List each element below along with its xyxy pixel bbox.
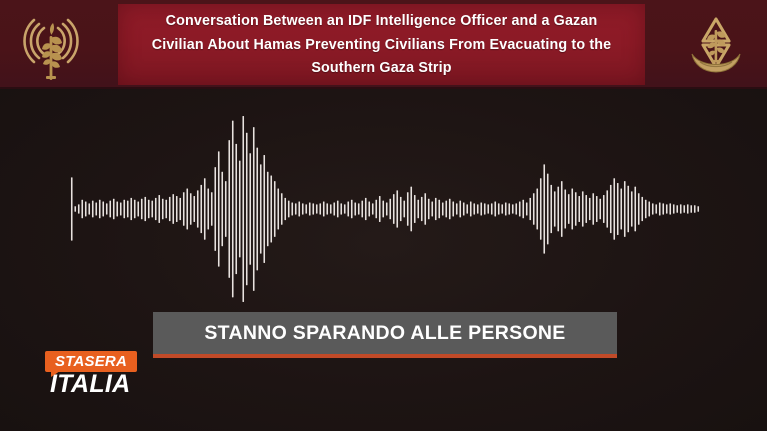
waveform-bars	[70, 109, 700, 309]
main-stage: STANNO SPARANDO ALLE PERSONE STASERA ITA…	[0, 89, 767, 431]
title-line-1: Conversation Between an IDF Intelligence…	[166, 10, 598, 34]
broadcast-screenshot: Conversation Between an IDF Intelligence…	[0, 0, 767, 431]
channel-logo-line2: ITALIA	[50, 371, 156, 397]
header-title-plate: Conversation Between an IDF Intelligence…	[118, 4, 645, 85]
broadcast-olive-branch-icon	[16, 8, 86, 84]
idf-emblem-icon	[680, 10, 752, 82]
title-line-3: Southern Gaza Strip	[311, 57, 451, 81]
subtitle-banner: STANNO SPARANDO ALLE PERSONE	[153, 312, 617, 358]
subtitle-text: STANNO SPARANDO ALLE PERSONE	[204, 322, 565, 345]
title-line-2: Civilian About Hamas Preventing Civilian…	[152, 34, 612, 58]
channel-logo: STASERA ITALIA	[44, 351, 156, 395]
channel-logo-badge: STASERA	[45, 351, 137, 372]
channel-logo-line1: STASERA	[45, 351, 137, 372]
header-band: Conversation Between an IDF Intelligence…	[0, 0, 767, 89]
audio-waveform	[70, 109, 700, 309]
